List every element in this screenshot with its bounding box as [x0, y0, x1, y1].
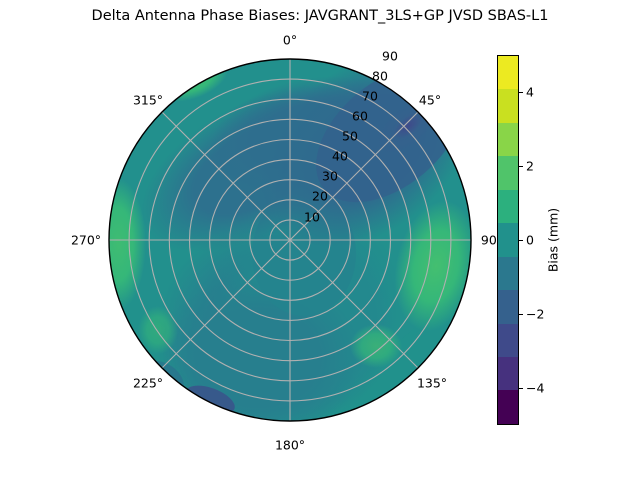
colorbar-segment-1-2: [498, 156, 518, 189]
angular-tick-0[interactable]: 0°: [283, 33, 297, 48]
angular-tick-270[interactable]: 270°: [71, 233, 101, 248]
radial-tick-40[interactable]: 40: [332, 149, 348, 164]
colorbar-segment-3-4: [498, 89, 518, 122]
radial-tick-60[interactable]: 60: [352, 109, 368, 124]
colorbar-tick-2: [519, 166, 523, 167]
colorbar-segment-neg2-1: [498, 257, 518, 290]
contour-region-se-positive: [350, 324, 402, 368]
page-title: Delta Antenna Phase Biases: JAVGRANT_3LS…: [0, 8, 640, 24]
colorbar-tick-4: [519, 92, 523, 93]
colorbar-ticklabel-neg2: −2: [526, 307, 544, 322]
radial-tick-10[interactable]: 10: [304, 210, 320, 225]
angular-tick-180[interactable]: 180°: [275, 438, 305, 453]
angular-tick-315[interactable]: 315°: [133, 93, 163, 108]
radial-tick-30[interactable]: 30: [322, 169, 338, 184]
angular-tick-135[interactable]: 135°: [417, 376, 447, 391]
polar-grid-spokes: [109, 59, 471, 421]
radial-tick-50[interactable]: 50: [342, 129, 358, 144]
colorbar-ticklabel-0: 0: [526, 233, 534, 248]
colorbar-segment-2-3: [498, 123, 518, 156]
colorbar-axis-label: Bias (mm): [546, 208, 561, 272]
radial-tick-70[interactable]: 70: [362, 89, 378, 104]
colorbar-segment-neg4-3: [498, 324, 518, 357]
colorbar-segment-neg5-45: [498, 390, 518, 424]
angular-tick-45[interactable]: 45°: [419, 93, 441, 108]
polar-contour-plot: [108, 58, 472, 422]
colorbar-segment-4-5: [498, 56, 518, 89]
figure-canvas: Delta Antenna Phase Biases: JAVGRANT_3LS…: [0, 0, 640, 480]
colorbar-tick-neg2: [519, 314, 523, 315]
colorbar-tick-0: [519, 240, 523, 241]
colorbar[interactable]: 4 2 0 −2 −4: [497, 55, 519, 425]
colorbar-ticklabel-4: 4: [526, 85, 534, 100]
colorbar-ticklabel-2: 2: [526, 159, 534, 174]
radial-tick-20[interactable]: 20: [312, 189, 328, 204]
colorbar-gradient: [497, 55, 519, 425]
angular-tick-225[interactable]: 225°: [133, 376, 163, 391]
polar-axes[interactable]: 0° 45° 90° 135° 180° 225° 270° 315° 10 2…: [108, 58, 472, 422]
colorbar-segment-0-1: [498, 190, 518, 223]
radial-tick-80[interactable]: 80: [372, 69, 388, 84]
colorbar-segment-neg1-0: [498, 223, 518, 256]
colorbar-segment-neg3-2: [498, 290, 518, 323]
colorbar-ticklabel-neg4: −4: [526, 381, 544, 396]
colorbar-segment-neg45-4: [498, 357, 518, 390]
colorbar-tick-neg4: [519, 388, 523, 389]
radial-tick-90[interactable]: 90: [382, 49, 398, 64]
